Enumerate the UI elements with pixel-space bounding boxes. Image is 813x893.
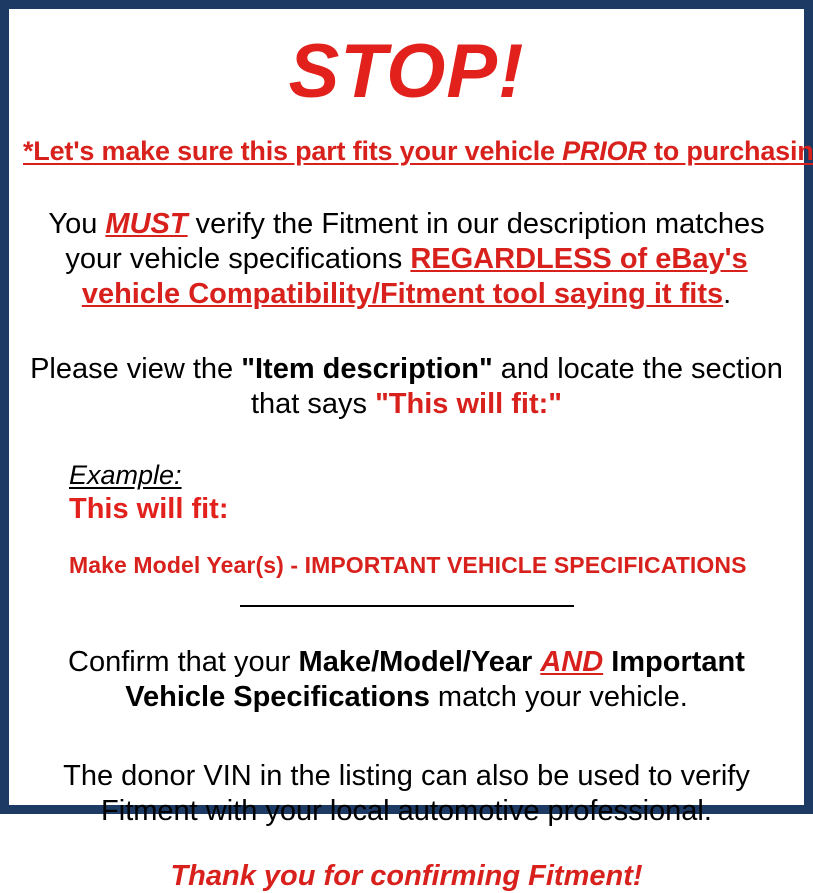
- example-label-wrap: Example:: [69, 460, 790, 490]
- must-text-part1: You: [48, 208, 105, 240]
- confirm-space2: [603, 646, 611, 678]
- closing-thanks: Thank you for confirming Fitment!: [23, 859, 790, 893]
- paragraph-must-verify: You MUST verify the Fitment in our descr…: [23, 207, 790, 312]
- confirm-text-part4: match your vehicle.: [430, 681, 688, 713]
- divider-wrap: [23, 605, 790, 617]
- item-description-emphasis: "Item description": [241, 353, 492, 385]
- example-spec-line: Make Model Year(s) - IMPORTANT VEHICLE S…: [69, 552, 790, 579]
- fitment-notice-card: STOP! *Let's make sure this part fits yo…: [0, 0, 813, 814]
- example-label: Example:: [69, 460, 182, 490]
- paragraph-confirm: Confirm that your Make/Model/Year AND Im…: [23, 645, 790, 715]
- section-divider: [240, 605, 574, 607]
- paragraph-donor-vin: The donor VIN in the listing can also be…: [23, 759, 790, 829]
- this-will-fit-quote: "This will fit:": [375, 388, 562, 420]
- notice-content: STOP! *Let's make sure this part fits yo…: [9, 9, 804, 805]
- page-title: STOP!: [23, 29, 790, 115]
- subtitle-suffix: to purchasing*: [647, 136, 813, 166]
- example-fit-header: This will fit:: [69, 492, 790, 526]
- must-emphasis: MUST: [105, 208, 187, 240]
- confirm-text-part1: Confirm that your: [68, 646, 298, 678]
- and-emphasis: AND: [540, 646, 603, 678]
- subtitle-banner: *Let's make sure this part fits your veh…: [23, 135, 790, 167]
- subtitle-prefix: *Let's make sure this part fits your veh…: [23, 136, 562, 166]
- paragraph-item-description: Please view the "Item description" and l…: [23, 352, 790, 422]
- example-block: Example: This will fit: Make Model Year(…: [23, 460, 790, 579]
- must-text-part3: .: [723, 278, 731, 310]
- subtitle-emphasis-prior: PRIOR: [562, 136, 647, 166]
- make-model-year-emphasis: Make/Model/Year: [299, 646, 533, 678]
- itemdesc-text-part1: Please view the: [30, 353, 241, 385]
